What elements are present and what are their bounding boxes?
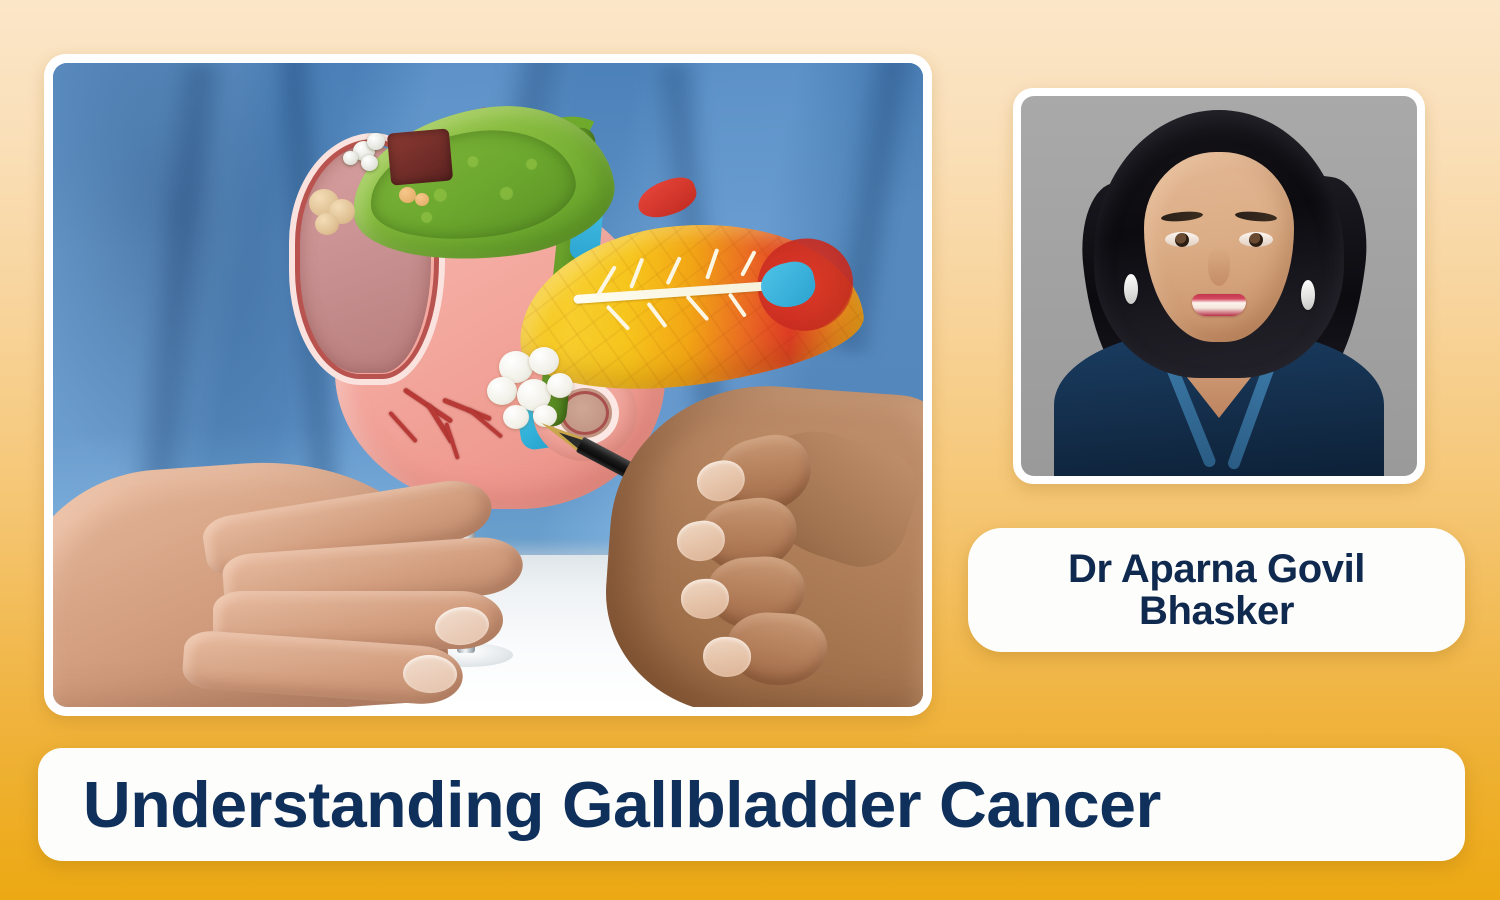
doctor-name-card: Dr Aparna Govil Bhasker [968,528,1465,652]
lymph-node-cluster [481,347,591,433]
doctor-portrait [1021,96,1417,476]
main-photo [53,63,923,707]
celiac-artery [633,173,701,224]
nose [1208,248,1230,286]
eye-right [1239,232,1273,247]
gallstone [415,193,429,206]
title-card: Understanding Gallbladder Cancer [38,748,1465,861]
doctor-photo-card [1013,88,1425,484]
doctor-name: Dr Aparna Govil Bhasker [968,548,1465,633]
gallstone [315,213,339,235]
gallstone [367,133,385,150]
earring-left [1124,274,1138,304]
main-photo-card [44,54,932,716]
gallbladder-tumor [387,128,453,185]
gallstone [399,187,416,203]
lymph-node [547,373,573,398]
lymph-node [503,405,529,429]
mouth [1192,294,1246,316]
eye-left [1165,232,1199,247]
gallstone [361,155,378,171]
lymph-node [487,377,517,405]
lymph-node [529,347,559,375]
gallstone [343,151,358,165]
earring-right [1301,280,1315,310]
page-title: Understanding Gallbladder Cancer [38,767,1161,842]
